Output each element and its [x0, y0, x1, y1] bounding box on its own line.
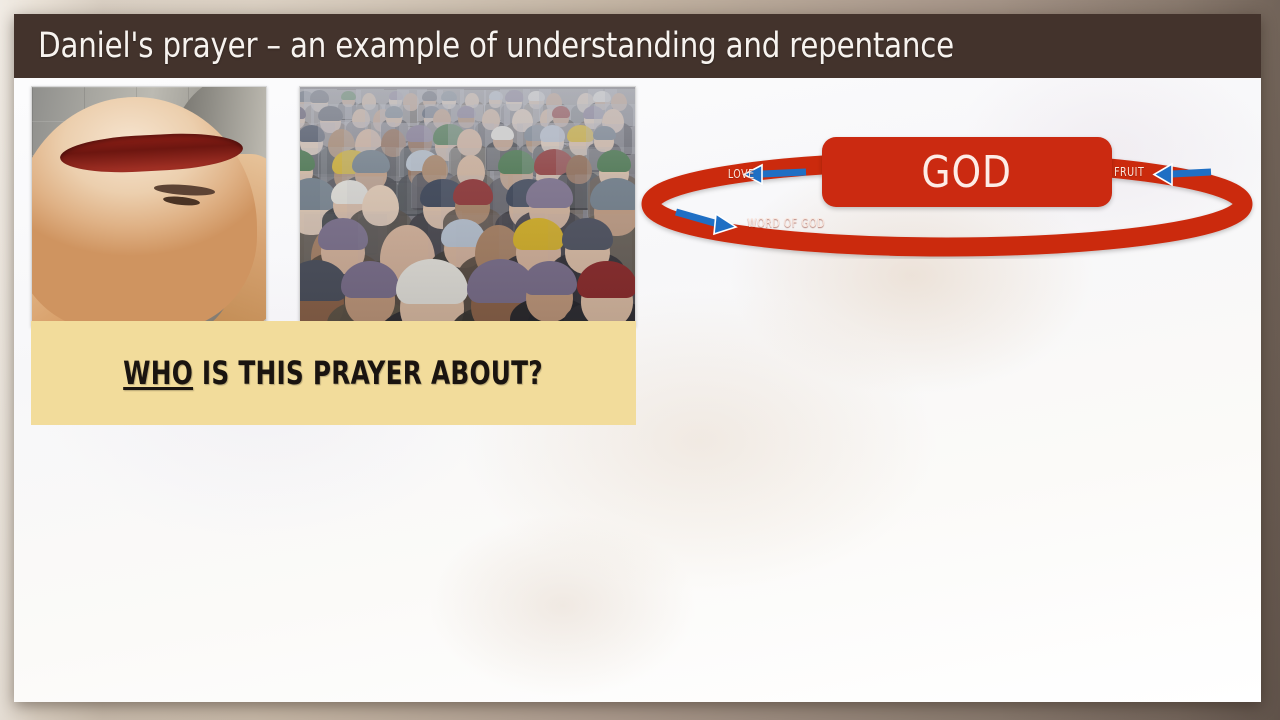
slide-title-band: Daniel's prayer – an example of understa…	[14, 14, 1261, 78]
page-title: Daniel's prayer – an example of understa…	[14, 26, 954, 66]
god-center-box: GOD	[822, 137, 1112, 207]
cycle-label-fruit: FRUIT	[1114, 165, 1144, 179]
cycle-label-love: LOVE	[728, 167, 755, 181]
god-cycle-diagram: GOD LOVE FRUIT WORD OF GOD	[634, 124, 1261, 259]
image-crowd: Dense crowd of people in winter coats, k…	[299, 86, 636, 327]
cycle-label-word-of-god: WORD OF GOD	[747, 216, 825, 230]
god-label: GOD	[922, 147, 1013, 198]
question-rest-text: IS THIS PRAYER ABOUT?	[193, 354, 543, 392]
question-banner: WHO IS THIS PRAYER ABOUT?	[31, 321, 636, 425]
question-emphasis-word: WHO	[124, 354, 194, 392]
slide-canvas: Daniel's prayer – an example of understa…	[14, 14, 1261, 702]
crowd-figures	[300, 87, 635, 326]
question-text: WHO IS THIS PRAYER ABOUT?	[124, 354, 544, 392]
image-daniel-portrait: Painted portrait of a bearded man wearin…	[31, 86, 267, 327]
crowd-overall-wash	[300, 87, 635, 326]
